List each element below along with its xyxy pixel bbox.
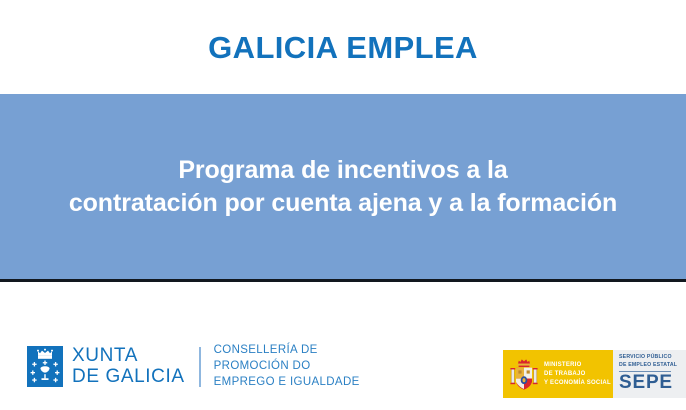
logo-divider xyxy=(199,347,201,387)
galicia-coat-of-arms-icon xyxy=(27,346,63,387)
page-title: GALICIA EMPLEA xyxy=(208,32,478,63)
ministry-name: MINISTERIO DE TRABAJO Y ECONOMÍA SOCIAL xyxy=(544,361,611,388)
ministry-name-line-3: Y ECONOMÍA SOCIAL xyxy=(544,379,611,388)
ministry-name-line-2: DE TRABAJO xyxy=(544,370,611,379)
sepe-subtitle-line-1: SERVICIO PÚBLICO xyxy=(619,354,686,362)
sepe-acronym: SEPE xyxy=(619,373,686,393)
ministry-of-labour-logo: MINISTERIO DE TRABAJO Y ECONOMÍA SOCIAL xyxy=(503,350,613,398)
ministry-name-line-1: MINISTERIO xyxy=(544,361,611,370)
consellería-line-3: EMPREGO E IGUALDADE xyxy=(214,375,360,391)
program-banner-text: Programa de incentivos a la contratación… xyxy=(53,154,633,220)
program-banner: Programa de incentivos a la contratación… xyxy=(0,94,686,282)
xunta-name-line-2: DE GALICIA xyxy=(72,367,185,388)
sepe-logo: SERVICIO PÚBLICO DE EMPLEO ESTATAL SEPE xyxy=(613,350,686,398)
consellería-line-1: CONSELLERÍA DE xyxy=(214,343,360,359)
consellería-line-2: PROMOCIÓN DO xyxy=(214,359,360,375)
xunta-name-line-1: XUNTA xyxy=(72,346,185,367)
header-band: GALICIA EMPLEA xyxy=(0,0,686,94)
xunta-de-galicia-logo: XUNTA DE GALICIA CONSELLERÍA DE PROMOCIÓ… xyxy=(27,343,360,391)
program-banner-line-1: Programa de incentivos a la xyxy=(69,154,617,187)
consellería-name: CONSELLERÍA DE PROMOCIÓN DO EMPREGO E IG… xyxy=(214,343,360,391)
sepe-subtitle-line-2: DE EMPLEO ESTATAL xyxy=(619,362,686,370)
xunta-name: XUNTA DE GALICIA xyxy=(72,346,185,387)
spain-coat-of-arms-icon xyxy=(509,356,539,392)
footer-logos: XUNTA DE GALICIA CONSELLERÍA DE PROMOCIÓ… xyxy=(0,285,686,410)
program-banner-line-2: contratación por cuenta ajena y a la for… xyxy=(69,187,617,220)
sepe-subtitle: SERVICIO PÚBLICO DE EMPLEO ESTATAL xyxy=(619,354,686,369)
